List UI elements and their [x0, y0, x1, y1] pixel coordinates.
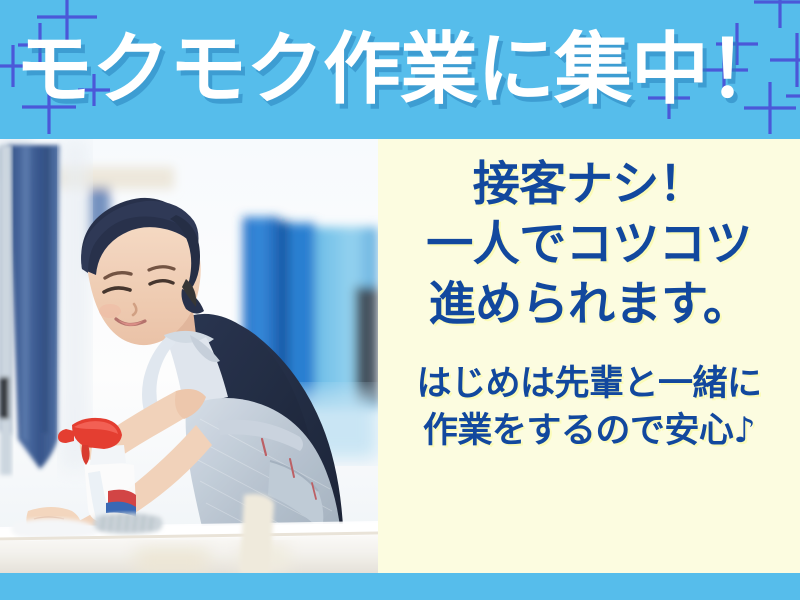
header-banner: モクモク作業に集中！	[0, 0, 800, 139]
panel-headline: 接客ナシ！ 一人でコツコツ 進められます。	[426, 155, 752, 335]
bottom-accent-bar	[0, 573, 800, 600]
panel-subtext: はじめは先輩と一緒に 作業をするので安心♪	[416, 361, 761, 455]
headline-line-2: 一人でコツコツ	[426, 215, 752, 275]
banner-title: モクモク作業に集中！	[0, 0, 800, 139]
poster-root: モクモク作業に集中！	[0, 0, 800, 600]
subtext-line-1: はじめは先輩と一緒に	[416, 361, 761, 408]
message-panel: 接客ナシ！ 一人でコツコツ 進められます。 はじめは先輩と一緒に 作業をするので…	[378, 139, 800, 573]
headline-line-3: 進められます。	[426, 275, 752, 335]
headline-line-1: 接客ナシ！	[426, 155, 752, 215]
photo-cleaning-staff	[0, 139, 378, 573]
subtext-line-2: 作業をするので安心♪	[416, 408, 761, 455]
